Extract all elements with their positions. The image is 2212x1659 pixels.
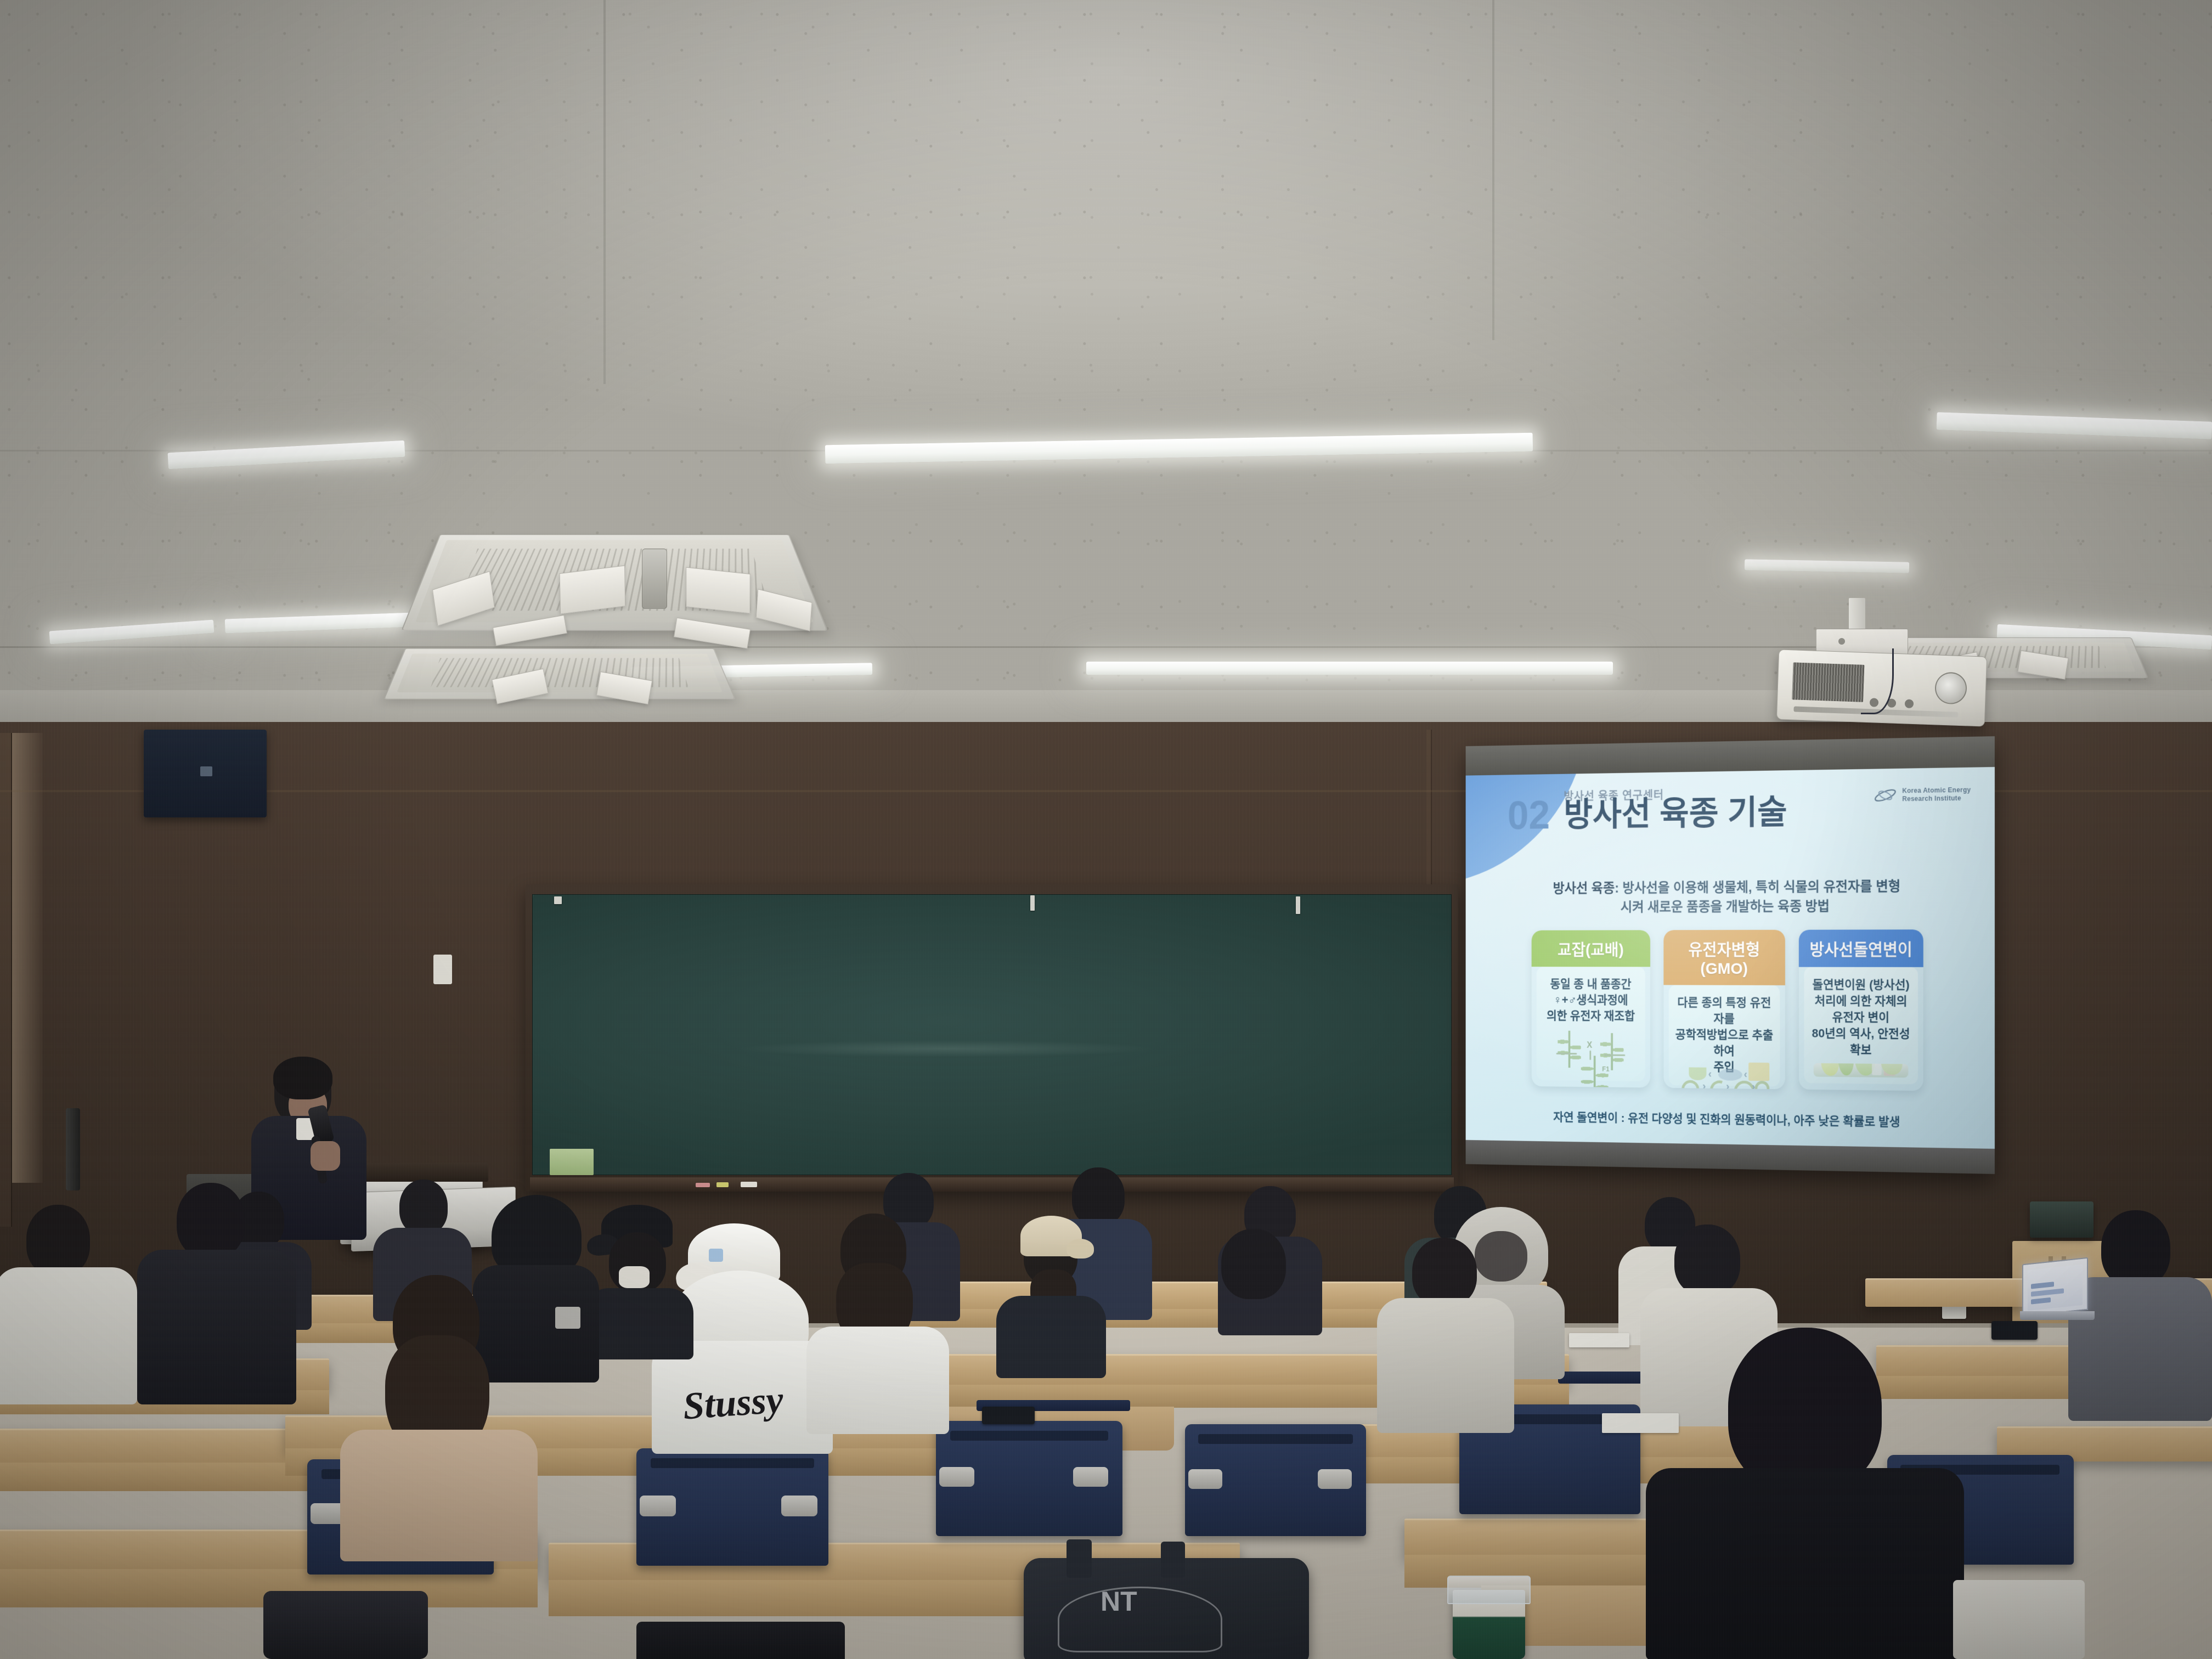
audience-member-black-cap	[584, 1205, 693, 1353]
audience-member	[340, 1275, 538, 1560]
chair-arm	[640, 1496, 676, 1516]
card-text-line2: ♀+♂생식과정에	[1547, 992, 1635, 1008]
card-text-line3: 의한 유전자 재조합	[1547, 1008, 1635, 1024]
card-heading: 유전자변형(GMO)	[1663, 930, 1785, 985]
laptop-base	[2020, 1311, 2095, 1320]
card-text-line2: 처리에 의한 자체의	[1810, 993, 1911, 1009]
slide-footer-note: 자연 돌연변이 : 유전 다양성 및 진화의 원동력이나, 아주 낮은 확률로 …	[1466, 1107, 1995, 1131]
card-crossbreeding: 교잡(교배) 동일 종 내 품종간 ♀+♂생식과정에 의한 유전자 재조합 X	[1532, 930, 1650, 1087]
slide-description-line1: : 방사선을 이용해 생물체, 특히 식물의 유전자를 변형	[1615, 879, 1900, 896]
speaker-grille-mark	[200, 766, 212, 776]
slide-description-label: 방사선 육종	[1553, 881, 1615, 896]
chair-arm	[781, 1496, 817, 1516]
crossing-plants-diagram: X F1	[1543, 1029, 1639, 1076]
projection-screen: 방사선 육종 연구센터 02 방사선 육종 기술 Korea Atomic En…	[1466, 736, 1995, 1174]
board-clip	[554, 896, 562, 904]
open-laptop[interactable]	[2022, 1257, 2088, 1317]
chair-arm	[1188, 1469, 1222, 1489]
cap-logo	[709, 1249, 723, 1262]
ac-cassette-unit-2	[383, 648, 736, 699]
slide-card-row: 교잡(교배) 동일 종 내 품종간 ♀+♂생식과정에 의한 유전자 재조합 X	[1532, 929, 1923, 1091]
face-mask	[619, 1266, 650, 1288]
light-bar	[1086, 662, 1613, 675]
cup-lid	[1447, 1576, 1531, 1604]
chair-arm	[939, 1467, 974, 1487]
card-text: 동일 종 내 품종간 ♀+♂생식과정에 의한 유전자 재조합	[1547, 976, 1635, 1024]
chair-arm	[1073, 1467, 1108, 1487]
chalk-red	[696, 1183, 710, 1187]
ceiling-grid-line	[603, 0, 606, 384]
kaeri-logo: Korea Atomic Energy Research Institute	[1873, 786, 1971, 804]
ac-vane	[560, 565, 625, 614]
board-clip	[1296, 896, 1300, 914]
presentation-slide: 방사선 육종 연구센터 02 방사선 육종 기술 Korea Atomic En…	[1466, 767, 1995, 1149]
chalk-white	[741, 1182, 757, 1187]
jacket-logo	[555, 1307, 580, 1329]
mic-stand	[66, 1108, 80, 1190]
foreground-bag	[636, 1622, 845, 1659]
ceiling-grid-line-right	[1492, 0, 1494, 340]
card-body: 동일 종 내 품종간 ♀+♂생식과정에 의한 유전자 재조합 X	[1537, 967, 1645, 1081]
projector-port	[1905, 699, 1914, 708]
wall-mounted-speaker	[144, 730, 267, 817]
plasmid-transfer-diagram: › › › ‹ ‹	[1675, 1080, 1774, 1081]
card-text-line2: 공학적방법으로 추출하여	[1675, 1026, 1774, 1059]
card-text-line1: 돌연변이원 (방사선)	[1810, 977, 1911, 993]
black-backpack: NT	[1024, 1558, 1309, 1659]
chair-arm	[1318, 1469, 1352, 1489]
irradiated-seedlings-photo	[1810, 1063, 1911, 1079]
slide-title: 방사선 육종 기술	[1564, 795, 1787, 833]
student-beige-cap	[996, 1210, 1106, 1364]
chalk-smudge	[735, 1040, 1157, 1057]
card-text-line1: 동일 종 내 품종간	[1547, 976, 1635, 992]
chalk-yellow	[716, 1182, 729, 1187]
foreground-jacket	[263, 1591, 428, 1659]
card-heading: 방사선돌연변이	[1799, 929, 1923, 967]
slide-description: 방사선 육종: 방사선을 이용해 생물체, 특히 식물의 유전자를 변형 시켜 …	[1466, 877, 1995, 917]
card-text-line4: 80년의 역사, 안전성 확보	[1810, 1025, 1911, 1059]
phone-on-desk[interactable]	[982, 1407, 1035, 1424]
board-notice-card	[550, 1149, 594, 1175]
card-text-line1: 다른 종의 특정 유전자를	[1675, 995, 1774, 1027]
chalkboard	[526, 884, 1458, 1192]
audience-member	[0, 1205, 137, 1402]
ac-hub	[642, 549, 667, 609]
chalkboard-surface	[532, 894, 1452, 1175]
card-gmo: 유전자변형(GMO) 다른 종의 특정 유전자를 공학적방법으로 추출하여 주입…	[1663, 930, 1785, 1090]
paper-on-desk	[1569, 1333, 1629, 1347]
audience-member	[1377, 1238, 1514, 1430]
audience-member	[137, 1183, 296, 1402]
audience-member	[1185, 1229, 1322, 1426]
mount-bolt	[1838, 638, 1845, 645]
foreground-student	[1646, 1328, 1964, 1659]
wall-panel-edge	[0, 733, 12, 1227]
audience-member	[806, 1214, 949, 1433]
projector-lens-icon	[1934, 672, 1967, 704]
logo-line-1: Korea Atomic Energy	[1902, 786, 1971, 795]
card-radiation-mutation: 방사선돌연변이 돌연변이원 (방사선) 처리에 의한 자체의 유전자 변이 80…	[1799, 929, 1923, 1091]
presenter-hair-top	[273, 1057, 332, 1099]
slide-description-line2: 시켜 새로운 품종을 개발하는 육종 방법	[1621, 899, 1830, 915]
card-body: 돌연변이원 (방사선) 처리에 의한 자체의 유전자 변이 80년의 역사, 안…	[1804, 967, 1918, 1085]
lecture-hall-photo: 방사선 육종 연구센터 02 방사선 육종 기술 Korea Atomic En…	[0, 0, 2212, 1659]
foreground-white-jacket	[1953, 1580, 2085, 1659]
hoodie-graphic: Stussy	[682, 1382, 789, 1442]
wall-edge-highlight	[10, 733, 43, 1183]
card-body: 다른 종의 특정 유전자를 공학적방법으로 추출하여 주입 › › ›	[1669, 985, 1780, 1086]
atom-swoosh-icon	[1873, 788, 1898, 803]
presenter-hand	[311, 1141, 340, 1171]
slide-section-number: 02	[1508, 795, 1550, 836]
ac-vane	[686, 567, 750, 614]
card-text: 돌연변이원 (방사선) 처리에 의한 자체의 유전자 변이 80년의 역사, 안…	[1810, 977, 1911, 1058]
card-heading: 교잡(교배)	[1532, 930, 1650, 967]
light-switch	[433, 955, 452, 984]
phone-on-desk[interactable]	[1991, 1321, 2038, 1340]
board-clip	[1030, 895, 1035, 911]
card-text-line3: 유전자 변이	[1810, 1009, 1911, 1026]
logo-line-2: Research Institute	[1902, 794, 1971, 804]
projector-drop-pole	[1849, 598, 1865, 632]
